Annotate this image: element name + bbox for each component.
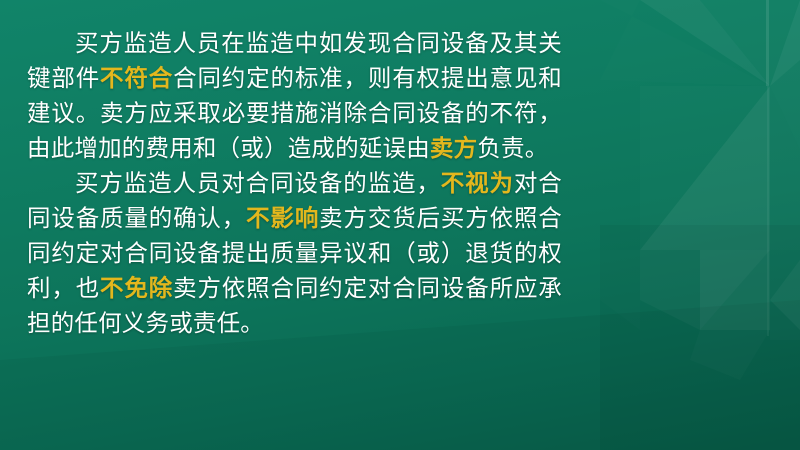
text-run: 负责。 — [477, 135, 548, 161]
paragraph-1: 买方监造人员在监造中如发现合同设备及其关键部件不符合合同约定的标准，则有权提出意… — [27, 26, 562, 166]
slide-text-body: 买方监造人员在监造中如发现合同设备及其关键部件不符合合同约定的标准，则有权提出意… — [27, 26, 562, 341]
highlighted-text-run: 不影响 — [246, 205, 319, 231]
highlighted-text-run: 不免除 — [100, 275, 173, 301]
paragraph-2: 买方监造人员对合同设备的监造，不视为对合同设备质量的确认，不影响卖方交货后买方依… — [27, 166, 562, 341]
text-run: 买方监造人员对合同设备的监造， — [75, 170, 441, 196]
highlighted-text-run: 不视为 — [441, 170, 514, 196]
presentation-slide: 买方监造人员在监造中如发现合同设备及其关键部件不符合合同约定的标准，则有权提出意… — [0, 0, 800, 450]
highlighted-text-run: 不符合 — [100, 65, 173, 91]
highlighted-text-run: 卖方 — [430, 135, 477, 161]
